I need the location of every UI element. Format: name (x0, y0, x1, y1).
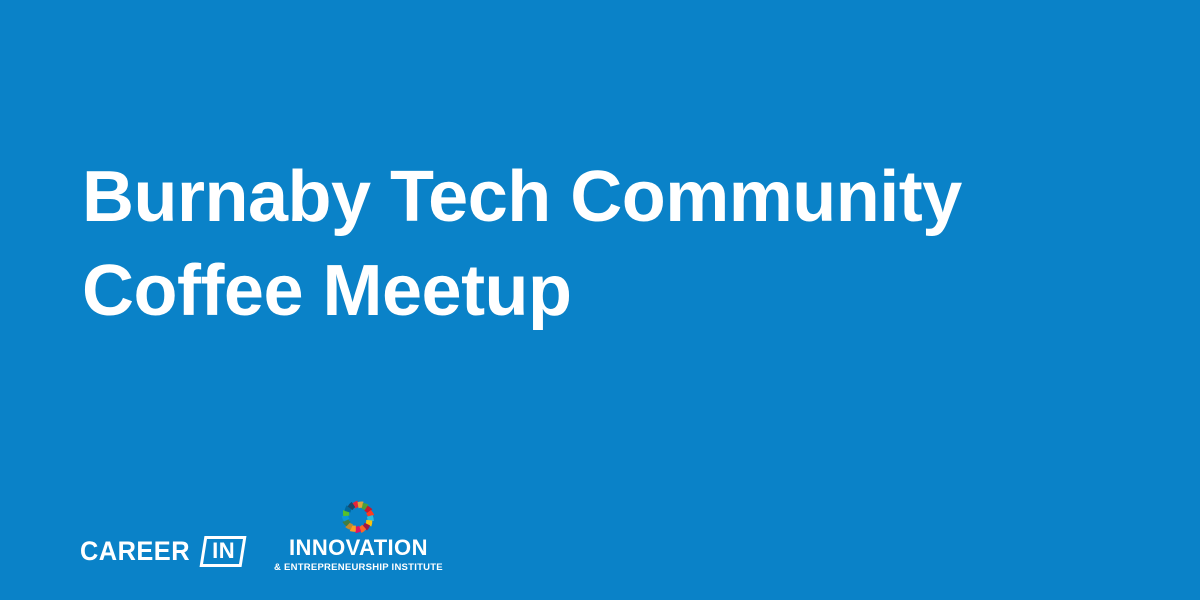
page-title: Burnaby Tech Community Coffee Meetup (82, 150, 1092, 338)
career-in-logo-word: CAREER (80, 537, 190, 565)
career-in-logo-badge-label: IN (212, 540, 235, 562)
innovation-logo-name: INNOVATION (289, 537, 428, 559)
event-poster: Burnaby Tech Community Coffee Meetup CAR… (0, 0, 1200, 600)
title-line-1: Burnaby Tech Community (82, 150, 1092, 244)
logo-row: CAREER IN (80, 500, 443, 574)
innovation-logo-subtitle: & ENTREPRENEURSHIP INSTITUTE (274, 562, 443, 574)
career-in-logo-badge: IN (200, 536, 247, 567)
sdg-color-wheel-icon (341, 500, 375, 534)
innovation-institute-logo: INNOVATION & ENTREPRENEURSHIP INSTITUTE (274, 500, 443, 574)
career-in-logo: CAREER IN (80, 534, 244, 568)
title-line-2: Coffee Meetup (82, 244, 1092, 338)
